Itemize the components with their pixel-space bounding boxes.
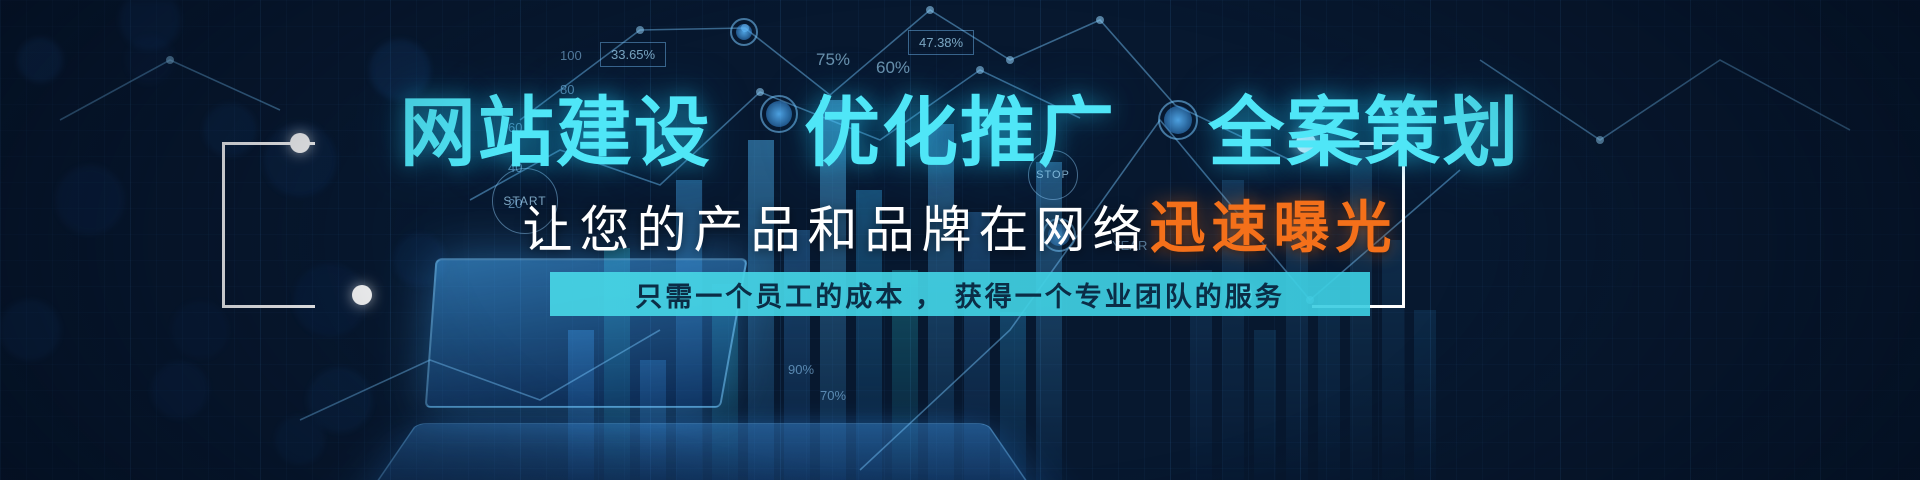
marketing-banner: START STOP 33.65% 47.38% 75% 60% 90% 70%… <box>0 0 1920 480</box>
vignette-overlay <box>0 0 1920 480</box>
